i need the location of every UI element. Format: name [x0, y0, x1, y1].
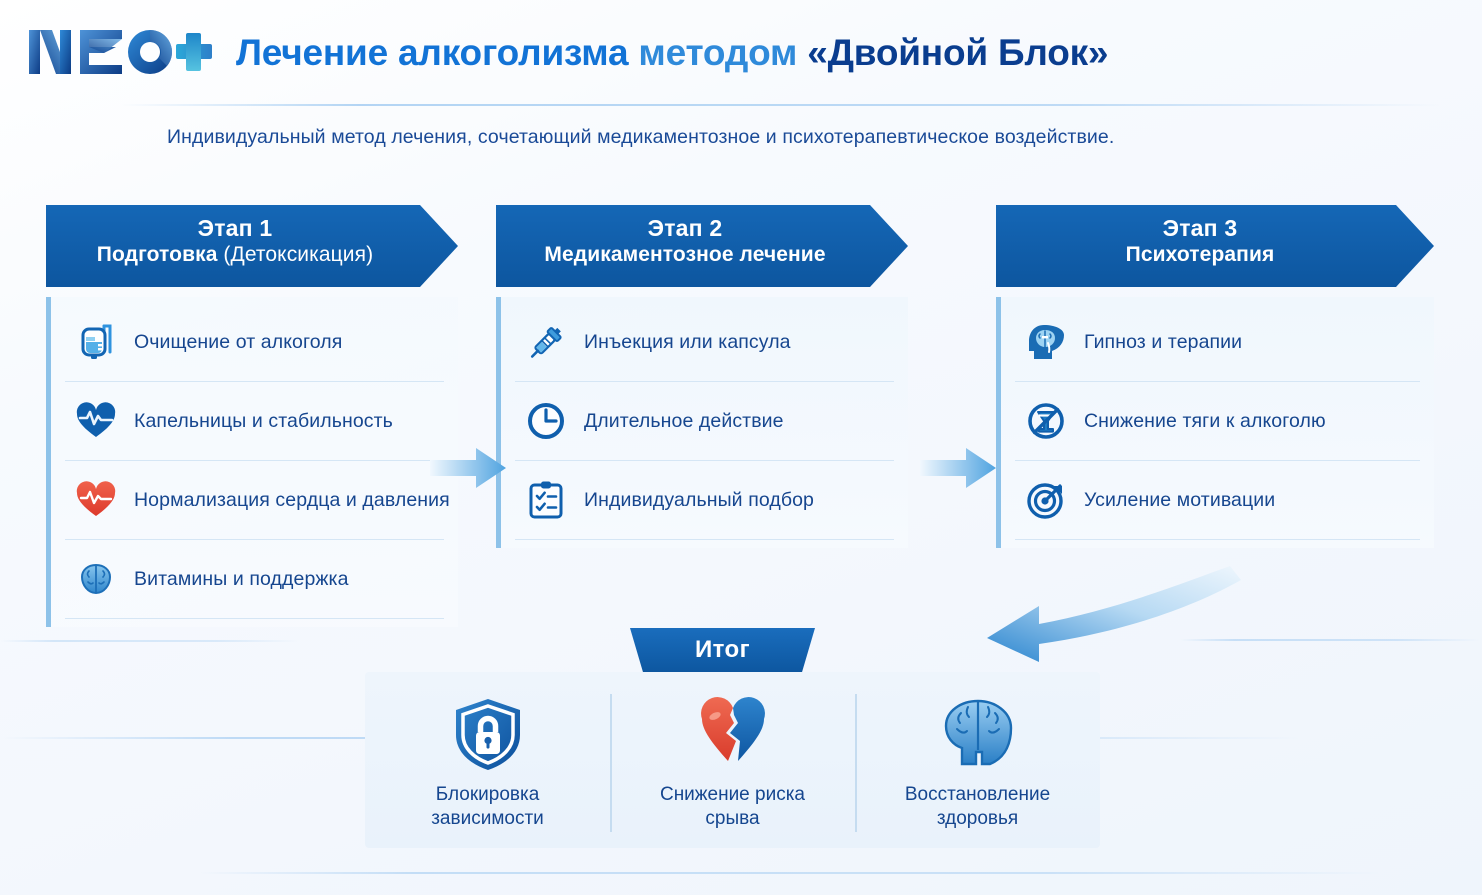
stage-name-3: Психотерапия: [1006, 242, 1394, 267]
target-arrow-icon: [1023, 477, 1069, 523]
stage-card-1: Этап 1 Подготовка (Детоксикация): [46, 205, 458, 627]
stage-banner-1: Этап 1 Подготовка (Детоксикация): [46, 205, 458, 287]
feature-row[interactable]: Гипноз и терапии: [1015, 303, 1420, 382]
page-header: Лечение алкоголизма методом «Двойной Бло…: [26, 22, 1108, 82]
stage-feature-list-2: Инъекция или капсула Длительное действие: [496, 297, 908, 548]
brain-icon: [73, 556, 119, 602]
brain-health-icon: [937, 695, 1019, 773]
heart-pulse-icon: [73, 398, 119, 444]
decorative-rule-bottom: [200, 872, 1380, 874]
feature-label: Очищение от алкоголя: [134, 331, 342, 354]
stage-banner-3: Этап 3 Психотерапия: [996, 205, 1434, 287]
broken-heart-icon: [694, 695, 772, 773]
stage-name-bold-3: Психотерапия: [1126, 243, 1275, 266]
feature-row[interactable]: Нормализация сердца и давления: [65, 461, 444, 540]
page-title-part-3: «Двойной Блок»: [807, 32, 1108, 73]
stage-feature-list-3: Гипноз и терапии Снижение тяги к алкогол…: [996, 297, 1434, 548]
result-label: Снижение риска срыва: [660, 783, 805, 831]
stage-name-bold-1: Подготовка: [97, 243, 218, 266]
stage-card-2: Этап 2 Медикаментозное лечение: [496, 205, 908, 548]
feature-label: Снижение тяги к алкоголю: [1084, 410, 1326, 433]
red-heart-icon: [73, 477, 119, 523]
result-item[interactable]: Блокировка зависимости: [365, 672, 610, 848]
page-subtitle: Индивидуальный метод лечения, сочетающий…: [167, 126, 1114, 149]
clock-icon: [523, 398, 569, 444]
no-alcohol-icon: [1023, 398, 1069, 444]
feature-label: Индивидуальный подбор: [584, 489, 814, 512]
feature-label: Инъекция или капсула: [584, 331, 791, 354]
head-brain-icon: [1023, 319, 1069, 365]
stage-number-3: Этап 3: [1006, 216, 1394, 242]
result-card: Блокировка зависимости: [365, 672, 1100, 848]
feature-row[interactable]: Индивидуальный подбор: [515, 461, 894, 540]
feature-row[interactable]: Длительное действие: [515, 382, 894, 461]
arrow-right-icon: [920, 445, 998, 491]
feature-label: Нормализация сердца и давления: [134, 489, 450, 512]
stage-feature-list-1: Очищение от алкоголя Капельницы и стабил…: [46, 297, 458, 627]
feature-row[interactable]: Снижение тяги к алкоголю: [1015, 382, 1420, 461]
feature-label: Усиление мотивации: [1084, 489, 1275, 512]
feature-row[interactable]: Усиление мотивации: [1015, 461, 1420, 540]
shield-lock-icon: [449, 695, 527, 773]
stage-name-2: Медикаментозное лечение: [506, 242, 864, 267]
feature-label: Капельницы и стабильность: [134, 410, 393, 433]
result-item[interactable]: Снижение риска срыва: [610, 672, 855, 848]
neo-plus-logo: [26, 22, 214, 82]
feature-row[interactable]: Капельницы и стабильность: [65, 382, 444, 461]
feature-label: Длительное действие: [584, 410, 784, 433]
result-label: Восстановление здоровья: [905, 783, 1050, 831]
result-label: Блокировка зависимости: [431, 783, 544, 831]
page-title: Лечение алкоголизма методом «Двойной Бло…: [236, 34, 1108, 71]
feature-label: Витамины и поддержка: [134, 568, 349, 591]
stage-name-1: Подготовка (Детоксикация): [56, 242, 414, 267]
arrow-right-icon: [430, 445, 508, 491]
feature-row[interactable]: Очищение от алкоголя: [65, 303, 444, 382]
decorative-rule-top: [120, 104, 1440, 106]
result-banner: Итог: [630, 628, 815, 672]
result-item[interactable]: Восстановление здоровья: [855, 672, 1100, 848]
stage-name-bold-2: Медикаментозное лечение: [544, 243, 825, 266]
page-title-part-1: Лечение алкоголизма: [236, 32, 638, 73]
feature-row[interactable]: Витамины и поддержка: [65, 540, 444, 619]
decorative-rule-left: [0, 640, 300, 642]
page-title-part-2: методом: [638, 32, 807, 73]
syringe-icon: [523, 319, 569, 365]
iv-drip-icon: [73, 319, 119, 365]
stages-container: Этап 1 Подготовка (Детоксикация): [0, 205, 1482, 565]
clipboard-checklist-icon: [523, 477, 569, 523]
stage-card-3: Этап 3 Психотерапия Гипноз и терапии: [996, 205, 1434, 548]
feature-row[interactable]: Инъекция или капсула: [515, 303, 894, 382]
stage-number-2: Этап 2: [506, 216, 864, 242]
feature-label: Гипноз и терапии: [1084, 331, 1242, 354]
curved-arrow-left-icon: [975, 548, 1275, 666]
stage-number-1: Этап 1: [56, 216, 414, 242]
stage-name-light-1: (Детоксикация): [217, 243, 373, 266]
stage-banner-2: Этап 2 Медикаментозное лечение: [496, 205, 908, 287]
